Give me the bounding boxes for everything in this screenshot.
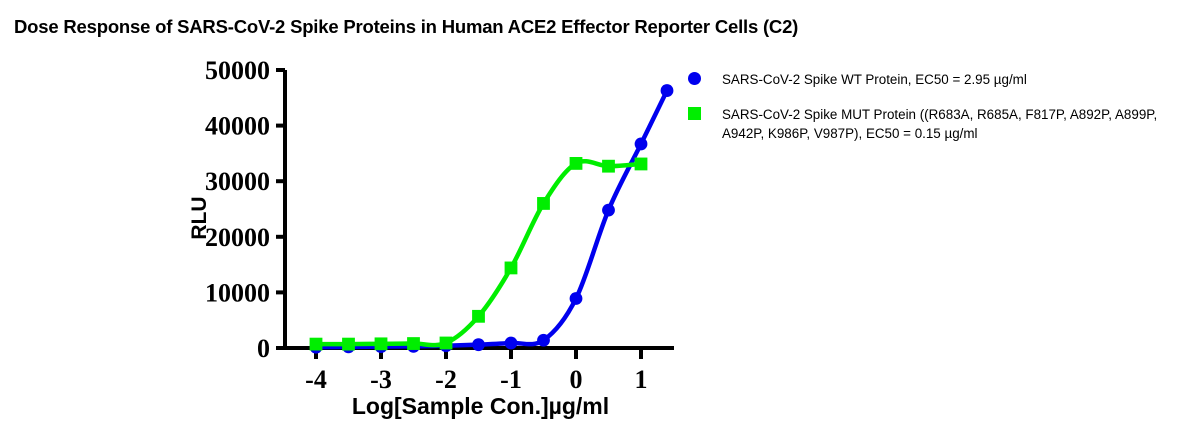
data-point-marker-square — [342, 338, 355, 351]
y-axis-label: RLU — [188, 196, 211, 239]
series-group — [310, 84, 674, 353]
chart-legend: SARS-CoV-2 Spike WT Protein, EC50 = 2.95… — [688, 70, 1183, 159]
data-point-marker-square — [440, 337, 453, 350]
data-point-marker-square — [537, 197, 550, 210]
legend-item[interactable]: SARS-CoV-2 Spike WT Protein, EC50 = 2.95… — [688, 70, 1183, 89]
x-axis-tick-label: -2 — [435, 365, 457, 394]
dose-response-plot: 01000020000300004000050000-4-3-2-101 RLU… — [0, 0, 1189, 424]
data-point-marker-circle — [472, 338, 485, 351]
data-point-marker-square — [570, 157, 583, 170]
x-axis-tick-label: 0 — [570, 365, 583, 394]
data-point-marker-circle — [602, 204, 615, 217]
data-point-marker-circle — [505, 337, 518, 350]
y-axis-tick-label: 30000 — [205, 167, 270, 196]
data-point-marker-square — [472, 310, 485, 323]
legend-swatch-wrap — [688, 105, 722, 120]
legend-marker-square-icon — [688, 107, 701, 120]
legend-item-label: SARS-CoV-2 Spike MUT Protein ((R683A, R6… — [722, 105, 1183, 143]
y-axis-tick-label: 10000 — [205, 278, 270, 307]
data-point-marker-circle — [570, 292, 583, 305]
x-axis-tick-label: -3 — [370, 365, 392, 394]
legend-item-label: SARS-CoV-2 Spike WT Protein, EC50 = 2.95… — [722, 70, 1027, 89]
data-point-marker-square — [375, 337, 388, 350]
data-point-marker-square — [505, 262, 518, 275]
legend-item[interactable]: SARS-CoV-2 Spike MUT Protein ((R683A, R6… — [688, 105, 1183, 143]
data-point-marker-square — [602, 160, 615, 173]
x-axis-tick-label: -1 — [500, 365, 522, 394]
data-series-mut — [310, 157, 648, 351]
data-point-marker-circle — [635, 138, 648, 151]
y-axis-tick-label: 50000 — [205, 56, 270, 85]
data-point-marker-square — [407, 337, 420, 350]
legend-marker-circle-icon — [688, 72, 701, 85]
y-axis-tick-label: 20000 — [205, 223, 270, 252]
data-point-marker-circle — [537, 334, 550, 347]
data-point-marker-square — [310, 338, 323, 351]
data-point-marker-square — [635, 158, 648, 171]
legend-swatch-wrap — [688, 70, 722, 85]
x-axis-tick-label: -4 — [305, 365, 327, 394]
x-axis-label: Log[Sample Con.]µg/ml — [352, 393, 609, 419]
x-axis-tick-label: 1 — [635, 365, 648, 394]
data-series-wt — [310, 84, 674, 353]
series-curve — [316, 91, 667, 348]
y-axis-tick-label: 40000 — [205, 112, 270, 141]
y-axis-tick-label: 0 — [257, 334, 270, 363]
data-point-marker-circle — [661, 84, 674, 97]
figure-container: Dose Response of SARS-CoV-2 Spike Protei… — [0, 0, 1189, 424]
